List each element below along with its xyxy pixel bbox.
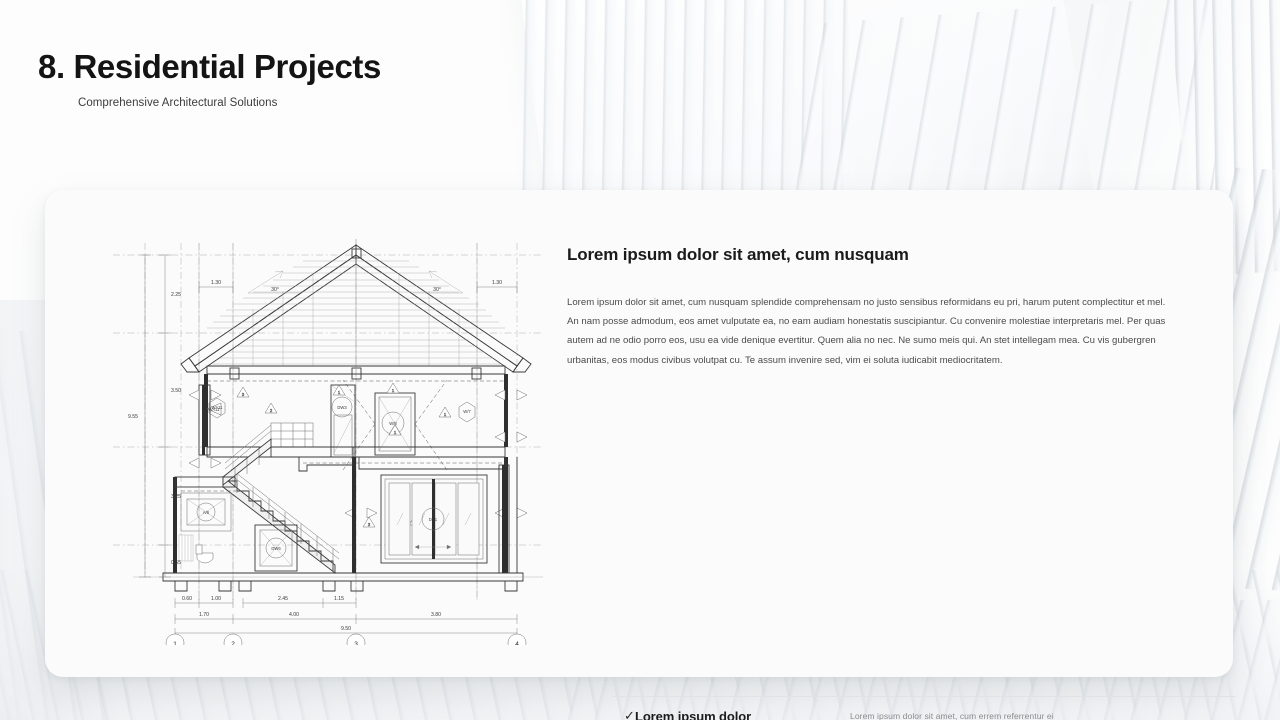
svg-text:3.50: 3.50 [171,388,181,394]
svg-text:1.30: 1.30 [211,280,221,286]
feature-list: ✓ Lorem ipsum dolor Lorem ipsum dolor si… [613,696,1236,720]
svg-text:DA1: DA1 [429,517,438,522]
page-title: 8. Residential Projects [38,48,381,86]
svg-text:1.70: 1.70 [199,612,209,618]
svg-text:W/7: W/7 [463,409,471,414]
svg-text:2: 2 [231,641,235,645]
feature-desc: Lorem ipsum dolor sit amet, cum errem re… [850,711,1054,720]
content-pane: Lorem ipsum dolor sit amet, cum nusquam … [567,245,1197,370]
svg-text:3.25: 3.25 [171,494,181,500]
architectural-drawing: W/8 DW3 WA11 WA11 W/7 [103,225,553,645]
svg-text:1.30: 1.30 [492,280,502,286]
svg-text:DW3: DW3 [337,405,347,410]
svg-text:1: 1 [173,641,177,645]
svg-text:3: 3 [354,641,358,645]
svg-text:30°: 30° [271,287,279,293]
feature-label: Lorem ipsum dolor [635,709,850,720]
svg-text:W/8: W/8 [389,421,397,426]
svg-text:2.45: 2.45 [278,596,288,602]
svg-text:DW6: DW6 [271,546,281,551]
content-body: Lorem ipsum dolor sit amet, cum nusquam … [567,293,1177,370]
svg-text:30°: 30° [433,287,441,293]
svg-text:1.15: 1.15 [334,596,344,602]
slide-header: 8. Residential Projects Comprehensive Ar… [38,48,381,109]
svg-text:0.60: 0.60 [182,596,192,602]
check-icon: ✓ [613,708,635,720]
svg-text:4: 4 [515,641,519,645]
svg-text:2.25: 2.25 [171,292,181,298]
svg-text:4.00: 4.00 [289,612,299,618]
svg-text:9.55: 9.55 [128,414,138,420]
list-item[interactable]: ✓ Lorem ipsum dolor Lorem ipsum dolor si… [613,696,1236,720]
content-heading: Lorem ipsum dolor sit amet, cum nusquam [567,245,1197,265]
svg-text:A/6: A/6 [203,510,210,515]
svg-text:9.50: 9.50 [341,626,351,632]
svg-text:3.80: 3.80 [431,612,441,618]
page-subtitle: Comprehensive Architectural Solutions [78,97,381,109]
slide-root: 8. Residential Projects Comprehensive Ar… [0,0,1280,720]
svg-text:WA11: WA11 [212,405,224,410]
svg-text:1.00: 1.00 [211,596,221,602]
content-card: W/8 DW3 WA11 WA11 W/7 [45,190,1233,677]
svg-text:0.55: 0.55 [171,560,181,566]
